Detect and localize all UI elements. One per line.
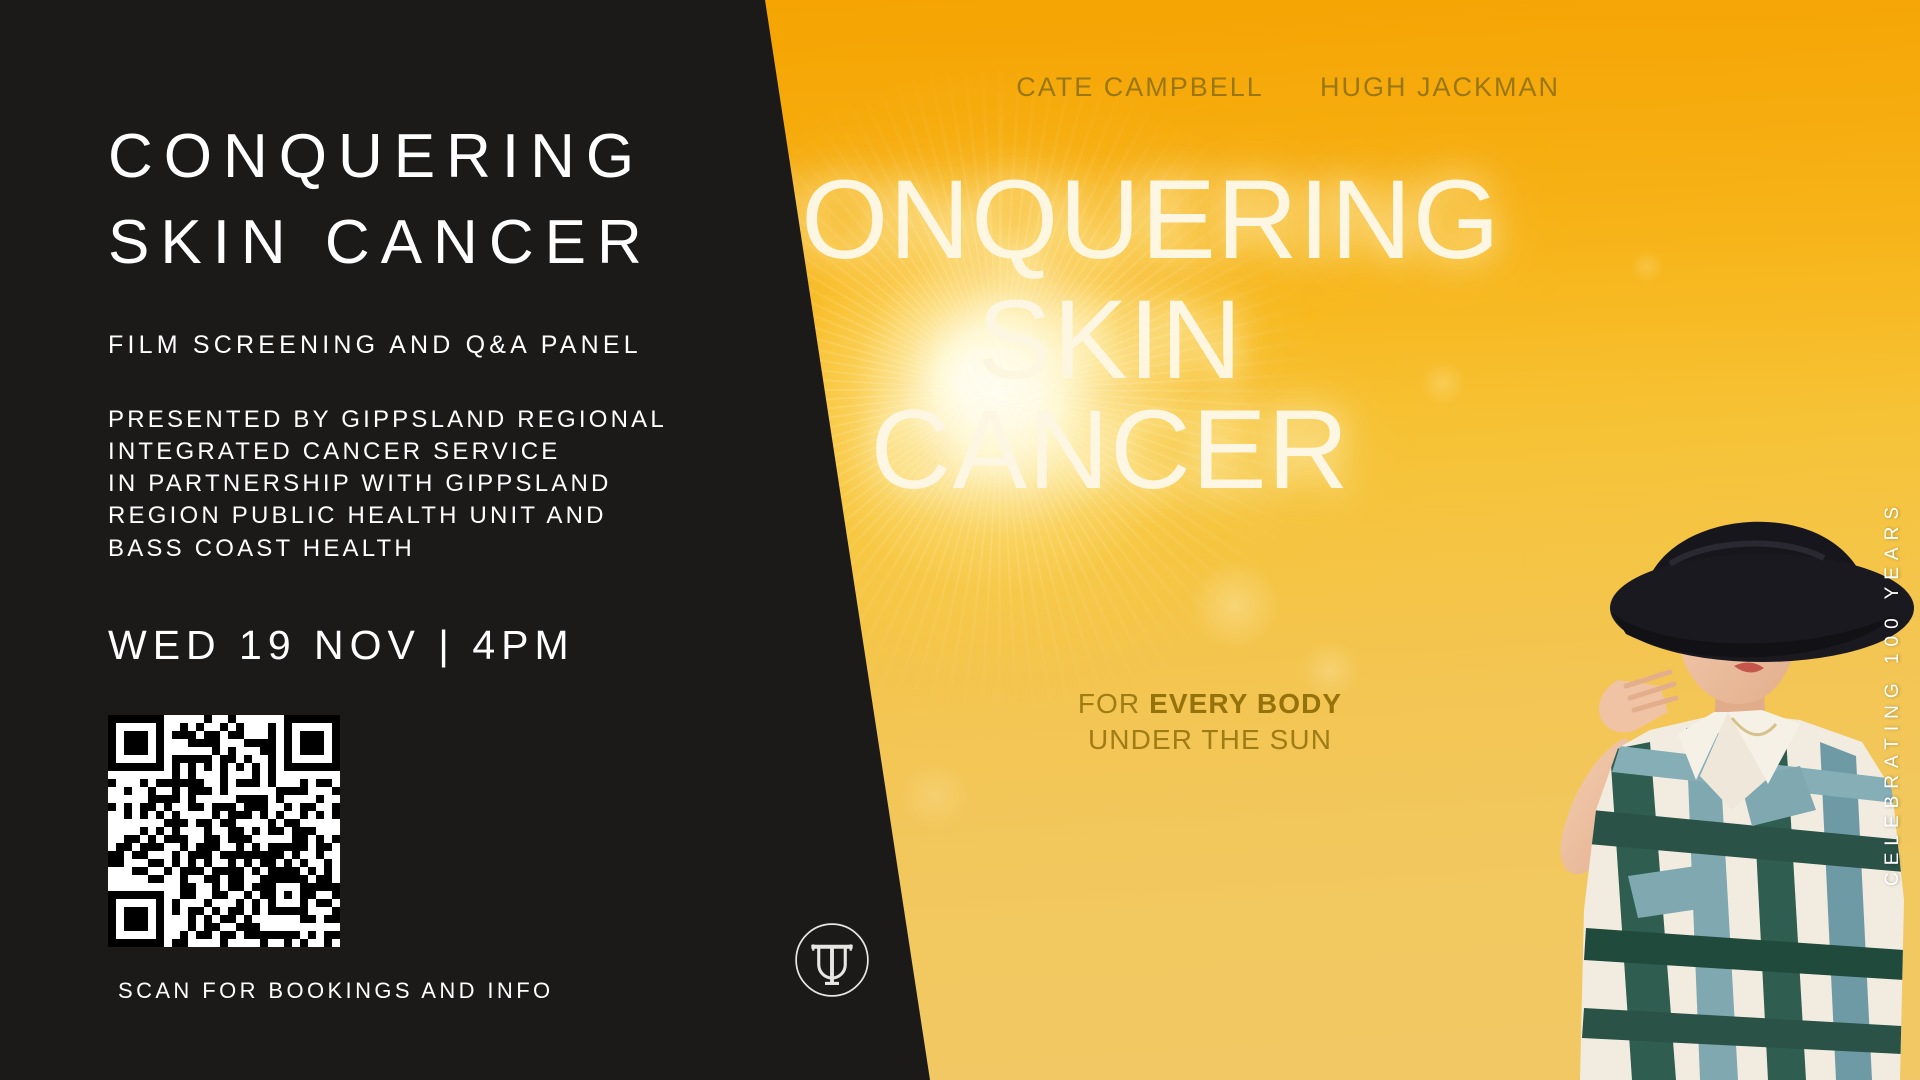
event-title-line-2: SKIN CANCER [108,212,653,274]
event-title-line-1: CONQUERING [108,126,645,188]
tagline-line-2: UNDER THE SUN [900,722,1520,758]
tagline-emphasis: EVERY BODY [1149,688,1342,719]
qr-caption: SCAN FOR BOOKINGS AND INFO [118,978,554,1004]
poster-canvas: CATE CAMPBELL HUGH JACKMAN CONQUERING SK… [0,0,1920,1080]
presented-by-line: REGION PUBLIC HEALTH UNIT AND [108,500,667,532]
presented-by-line: INTEGRATED CANCER SERVICE [108,436,667,468]
cast-name-2: HUGH JACKMAN [1120,72,1760,103]
organisation-logo [793,921,871,999]
presented-by-line: IN PARTNERSHIP WITH GIPPSLAND [108,468,667,500]
presented-by-line: PRESENTED BY GIPPSLAND REGIONAL [108,404,667,436]
tagline-line-1: FOR EVERY BODY [900,686,1520,722]
event-date-time: WED 19 NOV | 4PM [108,622,575,669]
event-subtitle: FILM SCREENING AND Q&A PANEL [108,331,642,360]
qr-code[interactable] [108,715,340,947]
anniversary-text: CELEBRATING 100 YEARS [1882,500,1904,886]
qr-code-image [108,715,340,947]
presented-by-line: BASS COAST HEALTH [108,533,667,565]
tagline-prefix: FOR [1078,688,1149,719]
presented-by-block: PRESENTED BY GIPPSLAND REGIONAL INTEGRAT… [108,404,667,565]
